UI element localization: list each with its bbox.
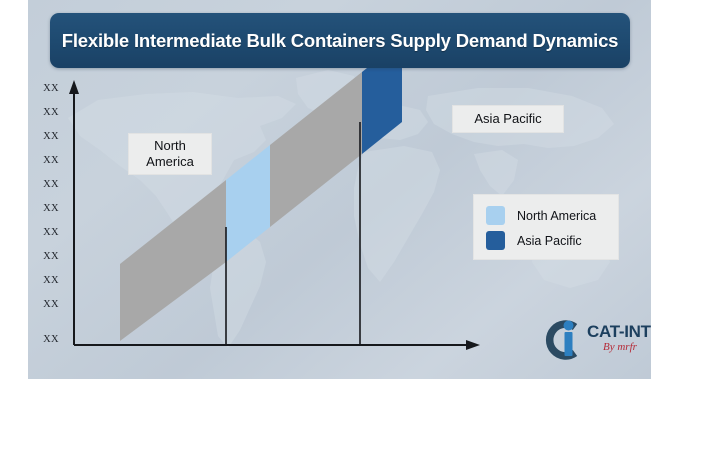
y-tick-label: XX — [40, 275, 62, 286]
y-tick-label: XX — [40, 334, 62, 345]
y-tick-label: XX — [40, 83, 62, 94]
callout-north-america-line1: North — [146, 138, 194, 154]
callout-asia-pacific: Asia Pacific — [452, 105, 564, 133]
legend-item-north-america: North America — [486, 203, 618, 228]
callout-north-america: North America — [128, 133, 212, 175]
y-axis-arrowhead — [69, 80, 79, 94]
y-tick-label: XX — [40, 179, 62, 190]
page-title: Flexible Intermediate Bulk Containers Su… — [62, 30, 619, 52]
slide-title-bar: Flexible Intermediate Bulk Containers Su… — [50, 13, 630, 68]
cat-intel-wordmark: CAT-INTEL — [587, 322, 651, 342]
legend-label-asia-pacific: Asia Pacific — [517, 234, 582, 248]
slide-canvas: XX XX XX XX XX XX XX XX XX XX XX North A… — [28, 0, 651, 379]
y-tick-label: XX — [40, 107, 62, 118]
y-tick-label: XX — [40, 251, 62, 262]
band-segment-gray-left — [120, 180, 226, 341]
y-tick-label: XX — [40, 155, 62, 166]
cat-intel-logo: CAT-INTEL By mrfr — [541, 316, 651, 364]
y-tick-label: XX — [40, 203, 62, 214]
legend-swatch-asia-pacific — [486, 231, 505, 250]
cat-intel-logo-mark — [541, 316, 587, 362]
y-tick-label: XX — [40, 131, 62, 142]
band-segment-north-america — [226, 145, 270, 262]
y-tick-label: XX — [40, 227, 62, 238]
band-segment-gray-middle — [270, 72, 362, 227]
x-axis-arrowhead — [466, 340, 480, 350]
legend-label-north-america: North America — [517, 209, 596, 223]
cat-intel-tagline: By mrfr — [603, 341, 637, 353]
chart-legend: North America Asia Pacific — [473, 194, 619, 260]
legend-item-asia-pacific: Asia Pacific — [486, 228, 618, 253]
callout-north-america-line2: America — [146, 154, 194, 170]
y-tick-label: XX — [40, 299, 62, 310]
legend-swatch-north-america — [486, 206, 505, 225]
